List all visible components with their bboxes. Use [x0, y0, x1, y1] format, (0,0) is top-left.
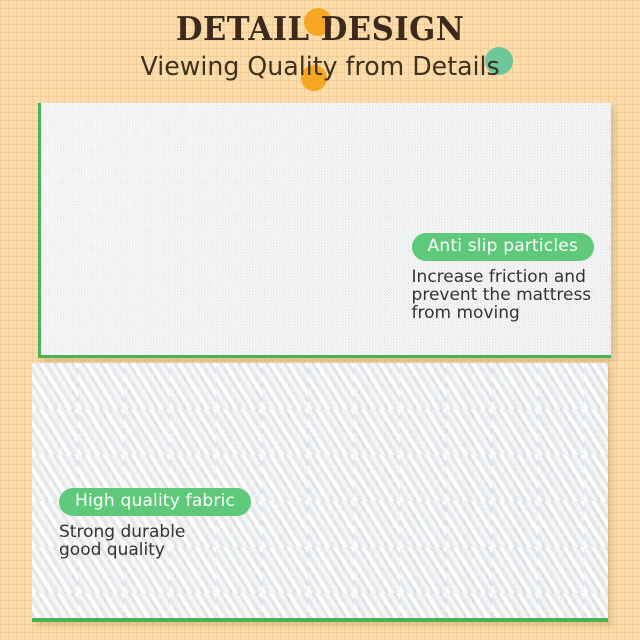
feature-pill-high-quality-fabric: High quality fabric [59, 488, 251, 516]
header: DETAIL DESIGN Viewing Quality from Detai… [0, 0, 640, 100]
feature-description-high-quality-fabric: Strong durable good quality [59, 523, 251, 559]
callout-high-quality-fabric: High quality fabric Strong durable good … [59, 488, 251, 559]
callout-anti-slip: Anti slip particles Increase friction an… [412, 233, 594, 322]
detail-panel-high-quality-fabric: High quality fabric Strong durable good … [32, 363, 608, 622]
title-group: DETAIL DESIGN [165, 12, 475, 45]
page-subtitle: Viewing Quality from Details [140, 54, 499, 80]
feature-description-anti-slip: Increase friction and prevent the mattre… [412, 268, 594, 322]
detail-panel-anti-slip: Anti slip particles Increase friction an… [38, 103, 611, 358]
feature-pill-anti-slip: Anti slip particles [412, 233, 594, 261]
subtitle-group: Viewing Quality from Details [135, 54, 505, 80]
page-title: DETAIL DESIGN [176, 12, 464, 45]
